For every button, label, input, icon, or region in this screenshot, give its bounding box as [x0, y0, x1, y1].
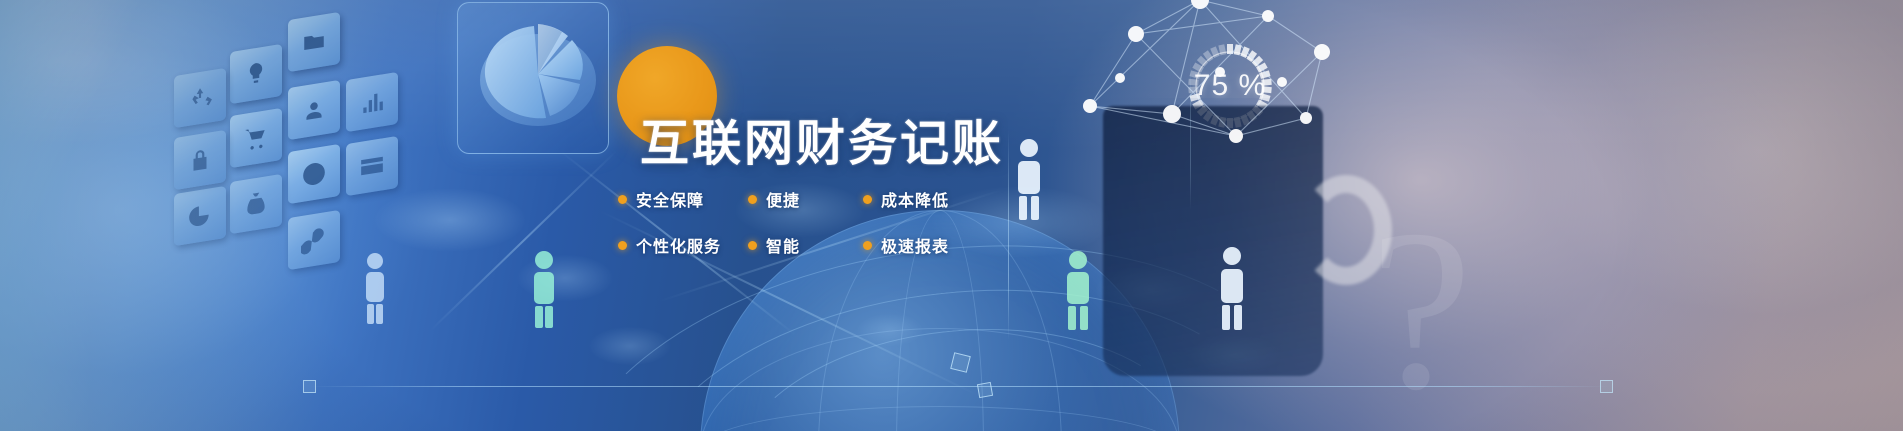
- feature-item-security: 安全保障: [618, 187, 748, 211]
- feature-label: 个性化服务: [636, 233, 721, 257]
- feature-item-smart: 智能: [748, 233, 863, 257]
- cube-recycle: [174, 68, 226, 128]
- cube-bar-chart: [346, 72, 398, 132]
- cube-pie-chart: [174, 186, 226, 246]
- page-title: 互联网财务记账: [640, 104, 1004, 175]
- left-blue-edge: [0, 0, 90, 431]
- person-icon: [1215, 246, 1249, 330]
- person-pictogram-2: [528, 250, 560, 328]
- credit-card-icon: [359, 151, 385, 181]
- person-pictogram-3: [1012, 138, 1046, 220]
- vertical-accent-line-1: [1008, 130, 1009, 340]
- cube-shopping-cart: [230, 108, 282, 168]
- person-icon: [528, 250, 560, 328]
- icon-cube-cluster: [168, 2, 418, 232]
- feature-item-convenient: 便捷: [748, 187, 863, 211]
- feature-row-1: 安全保障 便捷 成本降低: [618, 182, 998, 216]
- feature-item-cost: 成本降低: [863, 187, 949, 211]
- bottom-divider-line: [310, 386, 1610, 387]
- promo-banner: 互联网财务记账 安全保障 便捷 成本降低 个性化服务 智能: [0, 0, 1903, 431]
- money-bag-icon: [243, 189, 269, 219]
- network-graph-graphic: [1060, 0, 1360, 166]
- feature-label: 安全保障: [636, 187, 704, 211]
- bullet-dot-icon: [618, 195, 627, 204]
- cube-lightbulb: [230, 44, 282, 104]
- person-pictogram-1: [360, 252, 390, 324]
- person-icon: [1062, 250, 1094, 330]
- person-pictogram-4: [1062, 250, 1094, 330]
- decor-square-4: [1600, 380, 1613, 393]
- lock-icon: [187, 145, 213, 175]
- cube-folder: [288, 12, 340, 72]
- cube-clock: [288, 144, 340, 204]
- pie-chart-icon: [187, 201, 213, 231]
- feature-label: 智能: [766, 233, 800, 257]
- clock-icon: [301, 159, 327, 189]
- feature-label: 成本降低: [881, 187, 949, 211]
- cube-money-bag: [230, 174, 282, 234]
- vertical-accent-line-2: [1190, 60, 1191, 210]
- feature-label: 便捷: [766, 187, 800, 211]
- feature-label: 极速报表: [881, 233, 949, 257]
- bullet-dot-icon: [618, 241, 627, 250]
- feature-list: 安全保障 便捷 成本降低 个性化服务 智能 极速报表: [618, 182, 998, 262]
- shopping-cart-icon: [243, 123, 269, 153]
- person-pictogram-5: [1215, 246, 1249, 330]
- recycle-icon: [187, 83, 213, 113]
- decor-square-3: [977, 382, 993, 398]
- cube-credit-card: [346, 136, 398, 196]
- cube-link: [288, 210, 340, 270]
- folder-icon: [301, 27, 327, 57]
- person-icon: [1012, 138, 1046, 220]
- bullet-dot-icon: [863, 195, 872, 204]
- decor-square-1: [303, 380, 316, 393]
- bar-chart-icon: [359, 87, 385, 117]
- bullet-dot-icon: [748, 241, 757, 250]
- bullet-dot-icon: [863, 241, 872, 250]
- person-icon: [360, 252, 390, 324]
- feature-item-fast-report: 极速报表: [863, 233, 949, 257]
- cube-person: [288, 80, 340, 140]
- pie-chart-graphic: [476, 8, 608, 140]
- lightbulb-icon: [243, 59, 269, 89]
- question-mark-decor: ?: [1370, 195, 1472, 425]
- cube-lock: [174, 130, 226, 190]
- person-icon: [301, 95, 327, 125]
- feature-row-2: 个性化服务 智能 极速报表: [618, 228, 998, 262]
- feature-item-personalized: 个性化服务: [618, 233, 748, 257]
- link-icon: [301, 225, 327, 255]
- bullet-dot-icon: [748, 195, 757, 204]
